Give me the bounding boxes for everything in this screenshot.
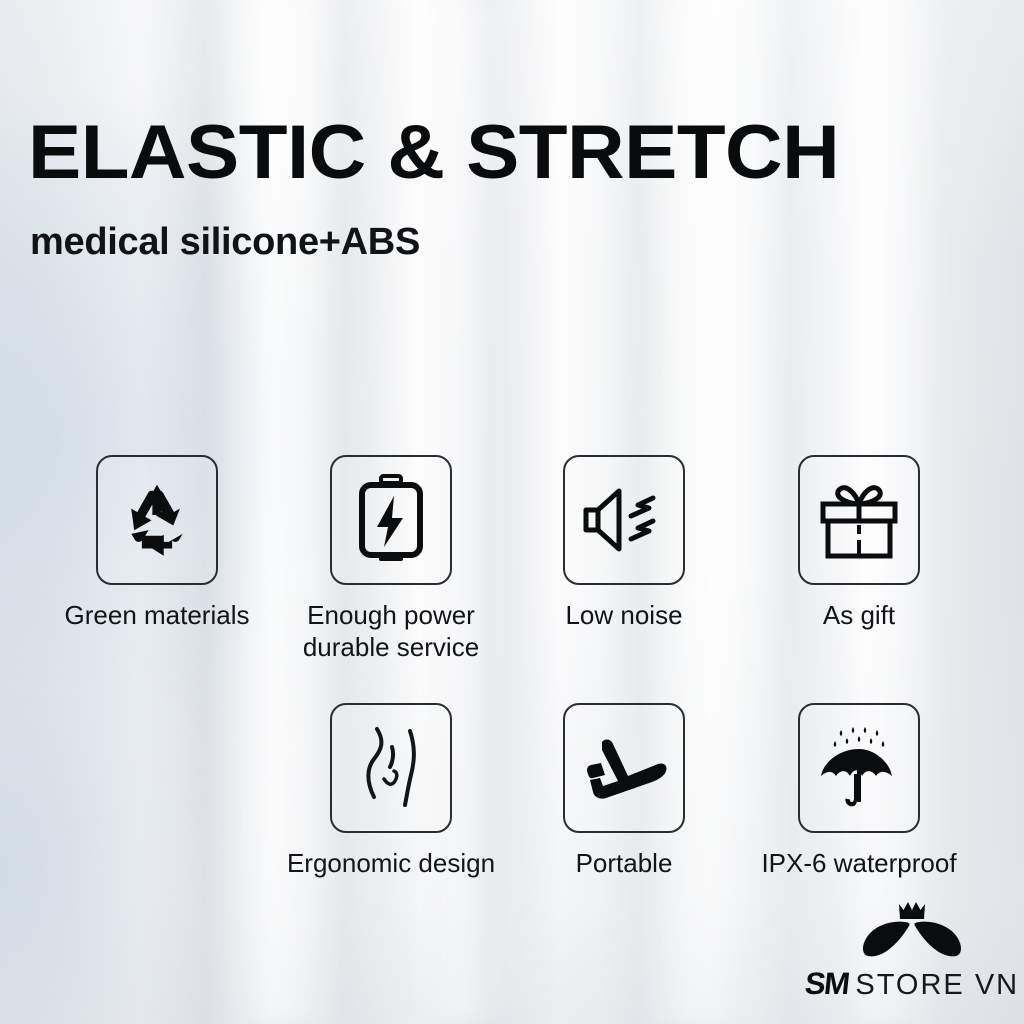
umbrella-rain-icon bbox=[816, 722, 902, 814]
feature-grid: Green materials Enough power durable ser… bbox=[0, 455, 1024, 933]
feature-label: IPX-6 waterproof bbox=[739, 847, 979, 879]
battery-charge-icon bbox=[353, 474, 429, 566]
page-title: ELASTIC & STRETCH bbox=[28, 112, 973, 194]
page-subtitle: medical silicone+ABS bbox=[30, 220, 928, 264]
feature-label: As gift bbox=[739, 599, 979, 631]
brand-logo-text: SM STORE VN bbox=[812, 966, 1012, 1002]
brand-logo: SM STORE VN bbox=[812, 898, 1012, 1002]
feature-low-noise[interactable]: Low noise bbox=[504, 455, 744, 631]
feature-enough-power[interactable]: Enough power durable service bbox=[271, 455, 511, 663]
wings-crown-logo-icon bbox=[812, 898, 1012, 960]
speaker-low-volume-icon bbox=[581, 485, 667, 555]
feature-as-gift[interactable]: As gift bbox=[739, 455, 979, 631]
feature-label: Low noise bbox=[504, 599, 744, 631]
ergonomic-body-curve-icon-box bbox=[330, 703, 452, 833]
feature-portable[interactable]: Portable bbox=[504, 703, 744, 879]
headline-block: ELASTIC & STRETCH medical silicone+ABS bbox=[28, 112, 928, 264]
feature-label: Green materials bbox=[37, 599, 277, 631]
feature-green-materials[interactable]: Green materials bbox=[37, 455, 277, 631]
airplane-icon bbox=[580, 732, 668, 804]
gift-box-icon bbox=[816, 478, 902, 562]
recycle-icon bbox=[115, 478, 199, 562]
wings-crown-icon bbox=[847, 898, 977, 960]
feature-label: Portable bbox=[504, 847, 744, 879]
ergonomic-body-curve-icon bbox=[354, 723, 428, 813]
brand-name-rest: STORE VN bbox=[855, 969, 1019, 1002]
brand-name-bold: SM bbox=[803, 966, 850, 1002]
feature-ergonomic-design[interactable]: Ergonomic design bbox=[271, 703, 511, 879]
gift-box-icon-box bbox=[798, 455, 920, 585]
feature-row-1: Green materials Enough power durable ser… bbox=[0, 455, 1024, 703]
speaker-low-volume-icon-box bbox=[563, 455, 685, 585]
feature-ipx6-waterproof[interactable]: IPX-6 waterproof bbox=[739, 703, 979, 879]
product-feature-poster: ELASTIC & STRETCH medical silicone+ABS bbox=[0, 0, 1024, 1024]
umbrella-rain-icon-box bbox=[798, 703, 920, 833]
recycle-icon-box bbox=[96, 455, 218, 585]
battery-charge-icon-box bbox=[330, 455, 452, 585]
airplane-icon-box bbox=[563, 703, 685, 833]
feature-label: Ergonomic design bbox=[271, 847, 511, 879]
feature-label: Enough power durable service bbox=[271, 599, 511, 663]
